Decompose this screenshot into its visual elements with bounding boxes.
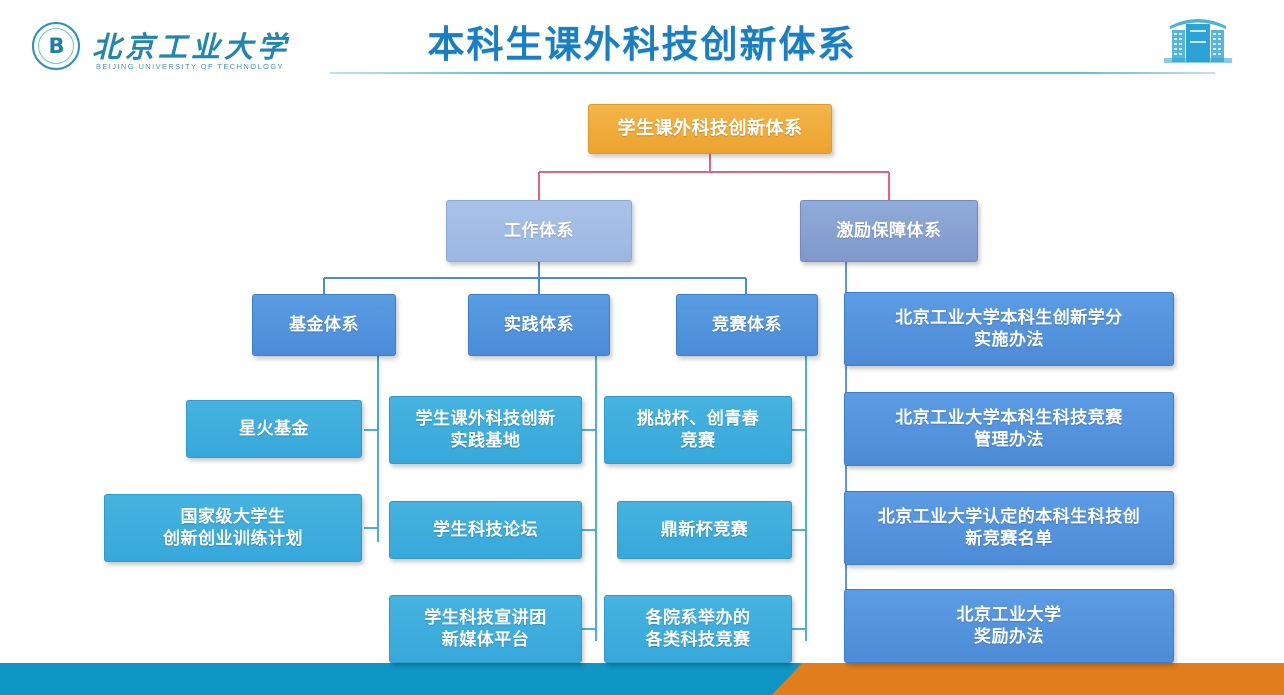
node-practice-system-label: 实践体系 [504,314,574,336]
node-practice-child-1[interactable]: 学生课外科技创新 实践基地 [389,396,582,464]
node-policy-2-line2: 管理办法 [974,429,1044,451]
connector-competition-children [792,354,806,641]
node-fund-system[interactable]: 基金体系 [252,294,396,356]
org-chart: 学生课外科技创新体系 工作体系 激励保障体系 基金体系 实践体系 竞赛体系 星火… [0,88,1284,663]
node-root-label: 学生课外科技创新体系 [618,117,803,140]
node-policy-1-line2: 实施办法 [974,329,1044,351]
node-root[interactable]: 学生课外科技创新体系 [588,104,832,154]
node-competition-system[interactable]: 竞赛体系 [676,294,818,356]
node-fund-child-2-line1: 国家级大学生 [181,506,286,528]
university-name-en: BEIJING UNIVERSITY OF TECHNOLOGY [96,62,284,71]
node-policy-1[interactable]: 北京工业大学本科生创新学分 实施办法 [844,292,1174,366]
node-competition-child-2[interactable]: 鼎新杯竞赛 [617,501,792,559]
node-competition-child-1-line1: 挑战杯、创青春 [637,408,760,430]
node-policy-3[interactable]: 北京工业大学认定的本科生科技创 新竞赛名单 [844,491,1174,565]
node-competition-child-2-line1: 鼎新杯竞赛 [661,519,749,541]
node-work-system[interactable]: 工作体系 [446,200,632,262]
node-policy-2-line1: 北京工业大学本科生科技竞赛 [895,407,1123,429]
title-underline [330,72,1215,74]
seal-glyph: B [48,36,63,57]
node-competition-system-label: 竞赛体系 [712,314,782,336]
node-incentive-system[interactable]: 激励保障体系 [800,200,978,262]
node-competition-child-3-line2: 各类科技竞赛 [646,629,751,651]
node-practice-child-2[interactable]: 学生科技论坛 [389,501,582,559]
node-work-system-label: 工作体系 [504,220,574,242]
connector-root-to-level2 [539,152,889,202]
node-fund-child-2[interactable]: 国家级大学生 创新创业训练计划 [104,494,362,562]
node-fund-system-label: 基金体系 [289,314,359,336]
node-practice-child-3-line2: 新媒体平台 [442,629,530,651]
university-name-cn: 北京工业大学 [92,24,290,66]
footer-bar-blue [0,663,812,695]
node-practice-child-3[interactable]: 学生科技宣讲团 新媒体平台 [389,595,582,663]
node-policy-4-line2: 奖励办法 [974,626,1044,648]
node-competition-child-3[interactable]: 各院系举办的 各类科技竞赛 [604,595,792,663]
node-policy-2[interactable]: 北京工业大学本科生科技竞赛 管理办法 [844,392,1174,466]
node-practice-child-2-line1: 学生科技论坛 [433,519,538,541]
connector-work-to-level3 [324,262,746,296]
university-seal-logo: B [32,22,80,70]
node-policy-3-line1: 北京工业大学认定的本科生科技创 [878,506,1141,528]
node-fund-child-1[interactable]: 星火基金 [186,400,362,458]
node-competition-child-3-line1: 各院系举办的 [646,607,751,629]
slide-canvas: B 北京工业大学 BEIJING UNIVERSITY OF TECHNOLOG… [0,0,1284,695]
node-policy-4[interactable]: 北京工业大学 奖励办法 [844,589,1174,663]
node-incentive-system-label: 激励保障体系 [837,220,942,242]
node-policy-3-line2: 新竞赛名单 [965,528,1053,550]
connector-lines [0,88,1284,663]
connector-fund-children [364,342,378,542]
node-policy-1-line1: 北京工业大学本科生创新学分 [895,307,1123,329]
node-fund-child-2-line2: 创新创业训练计划 [163,528,303,550]
slide-header: B 北京工业大学 BEIJING UNIVERSITY OF TECHNOLOG… [0,0,1284,88]
footer-bar-orange [772,663,1284,695]
node-practice-child-1-line2: 实践基地 [451,430,521,452]
slide-footer [0,663,1284,695]
campus-building-icon [1152,8,1244,70]
node-practice-system[interactable]: 实践体系 [468,294,610,356]
node-competition-child-1[interactable]: 挑战杯、创青春 竞赛 [604,396,792,464]
node-practice-child-1-line1: 学生课外科技创新 [416,408,556,430]
node-policy-4-line1: 北京工业大学 [957,604,1062,626]
node-practice-child-3-line1: 学生科技宣讲团 [424,607,547,629]
node-fund-child-1-label: 星火基金 [239,418,309,440]
node-competition-child-1-line2: 竞赛 [681,430,716,452]
connector-practice-children [582,354,596,641]
